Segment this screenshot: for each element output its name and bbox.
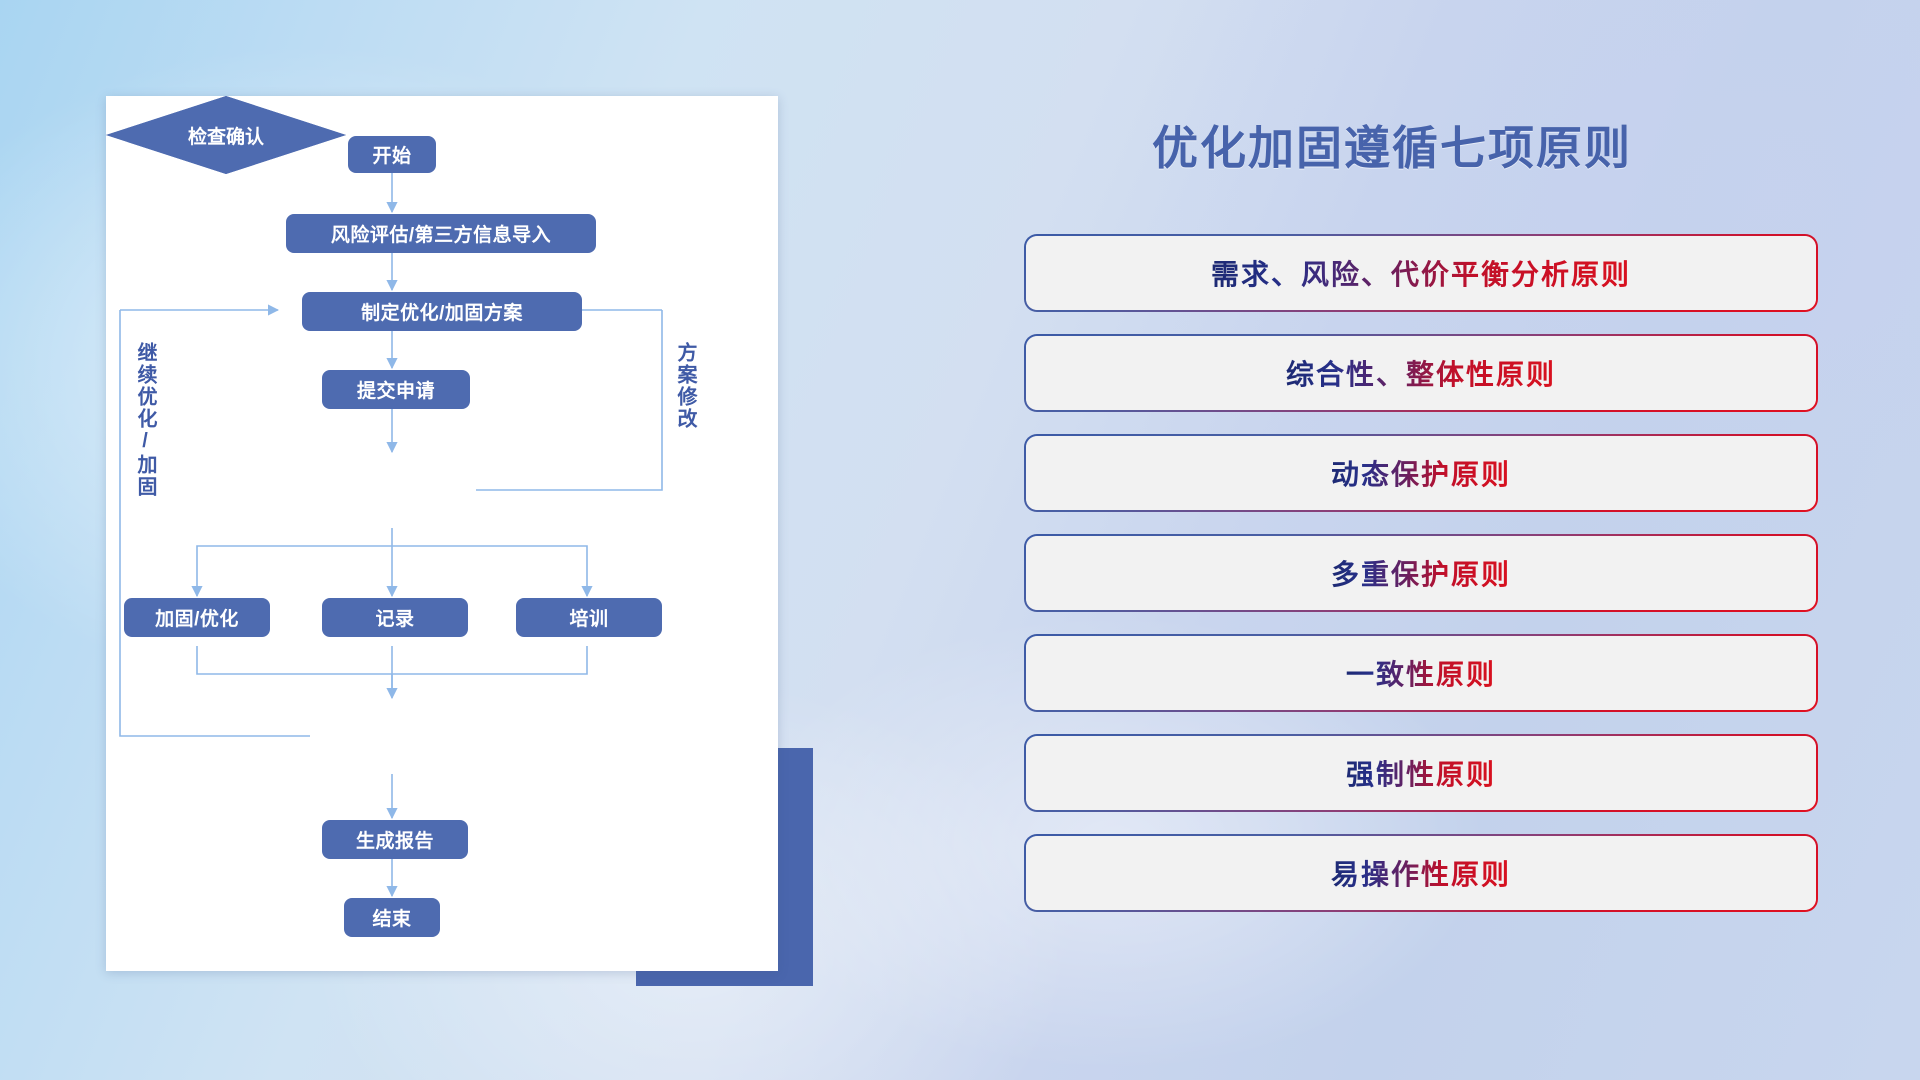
principle-card[interactable]: 一致性原则	[1026, 636, 1816, 710]
principles-list: 需求、风险、代价平衡分析原则 综合性、整体性原则 动态保护原则 多重保护原则 一…	[1026, 236, 1816, 936]
principles-title: 优化加固遵循七项原则	[1152, 112, 1632, 178]
principle-card[interactable]: 易操作性原则	[1026, 836, 1816, 910]
principle-card-label: 强制性原则	[1346, 753, 1496, 793]
flow-node-label: 风险评估/第三方信息导入	[331, 220, 551, 247]
flow-node-label: 开始	[372, 141, 411, 168]
flow-node-reinforce[interactable]: 加固/优化	[124, 598, 270, 637]
flow-node-label: 提交申请	[357, 376, 435, 403]
flow-node-make-plan[interactable]: 制定优化/加固方案	[302, 292, 582, 331]
principle-card[interactable]: 动态保护原则	[1026, 436, 1816, 510]
flow-node-label: 生成报告	[356, 826, 434, 853]
flow-node-training[interactable]: 培训	[516, 598, 662, 637]
flow-node-label: 记录	[375, 604, 414, 631]
principle-card-label: 综合性、整体性原则	[1286, 353, 1556, 393]
flow-label-continue-optimize: 继续优化/加固	[134, 342, 155, 498]
flowchart: 开始 风险评估/第三方信息导入 制定优化/加固方案 提交申请 业主方确认 加固/…	[106, 96, 778, 971]
principle-card-label: 需求、风险、代价平衡分析原则	[1211, 253, 1631, 293]
flow-node-label: 结束	[372, 904, 411, 931]
flow-node-label: 制定优化/加固方案	[361, 298, 523, 325]
principle-card-label: 一致性原则	[1346, 653, 1496, 693]
principle-card[interactable]: 需求、风险、代价平衡分析原则	[1026, 236, 1816, 310]
flow-node-submit[interactable]: 提交申请	[322, 370, 470, 409]
principle-card-label: 易操作性原则	[1331, 853, 1511, 893]
flow-node-label: 检查确认	[106, 96, 346, 174]
flow-node-record[interactable]: 记录	[322, 598, 468, 637]
principle-card[interactable]: 综合性、整体性原则	[1026, 336, 1816, 410]
flow-node-start[interactable]: 开始	[348, 136, 436, 173]
principle-card[interactable]: 强制性原则	[1026, 736, 1816, 810]
principle-card-label: 多重保护原则	[1331, 553, 1511, 593]
flow-node-label: 加固/优化	[155, 604, 239, 631]
flow-node-risk-assess[interactable]: 风险评估/第三方信息导入	[286, 214, 596, 253]
flow-label-plan-revise: 方案修改	[674, 342, 695, 430]
flow-node-end[interactable]: 结束	[344, 898, 440, 937]
slide-canvas: 开始 风险评估/第三方信息导入 制定优化/加固方案 提交申请 业主方确认 加固/…	[0, 0, 1920, 1080]
flow-node-label: 培训	[569, 604, 608, 631]
principle-card[interactable]: 多重保护原则	[1026, 536, 1816, 610]
principle-card-label: 动态保护原则	[1331, 453, 1511, 493]
flow-node-report[interactable]: 生成报告	[322, 820, 468, 859]
flowchart-card: 开始 风险评估/第三方信息导入 制定优化/加固方案 提交申请 业主方确认 加固/…	[106, 96, 778, 971]
